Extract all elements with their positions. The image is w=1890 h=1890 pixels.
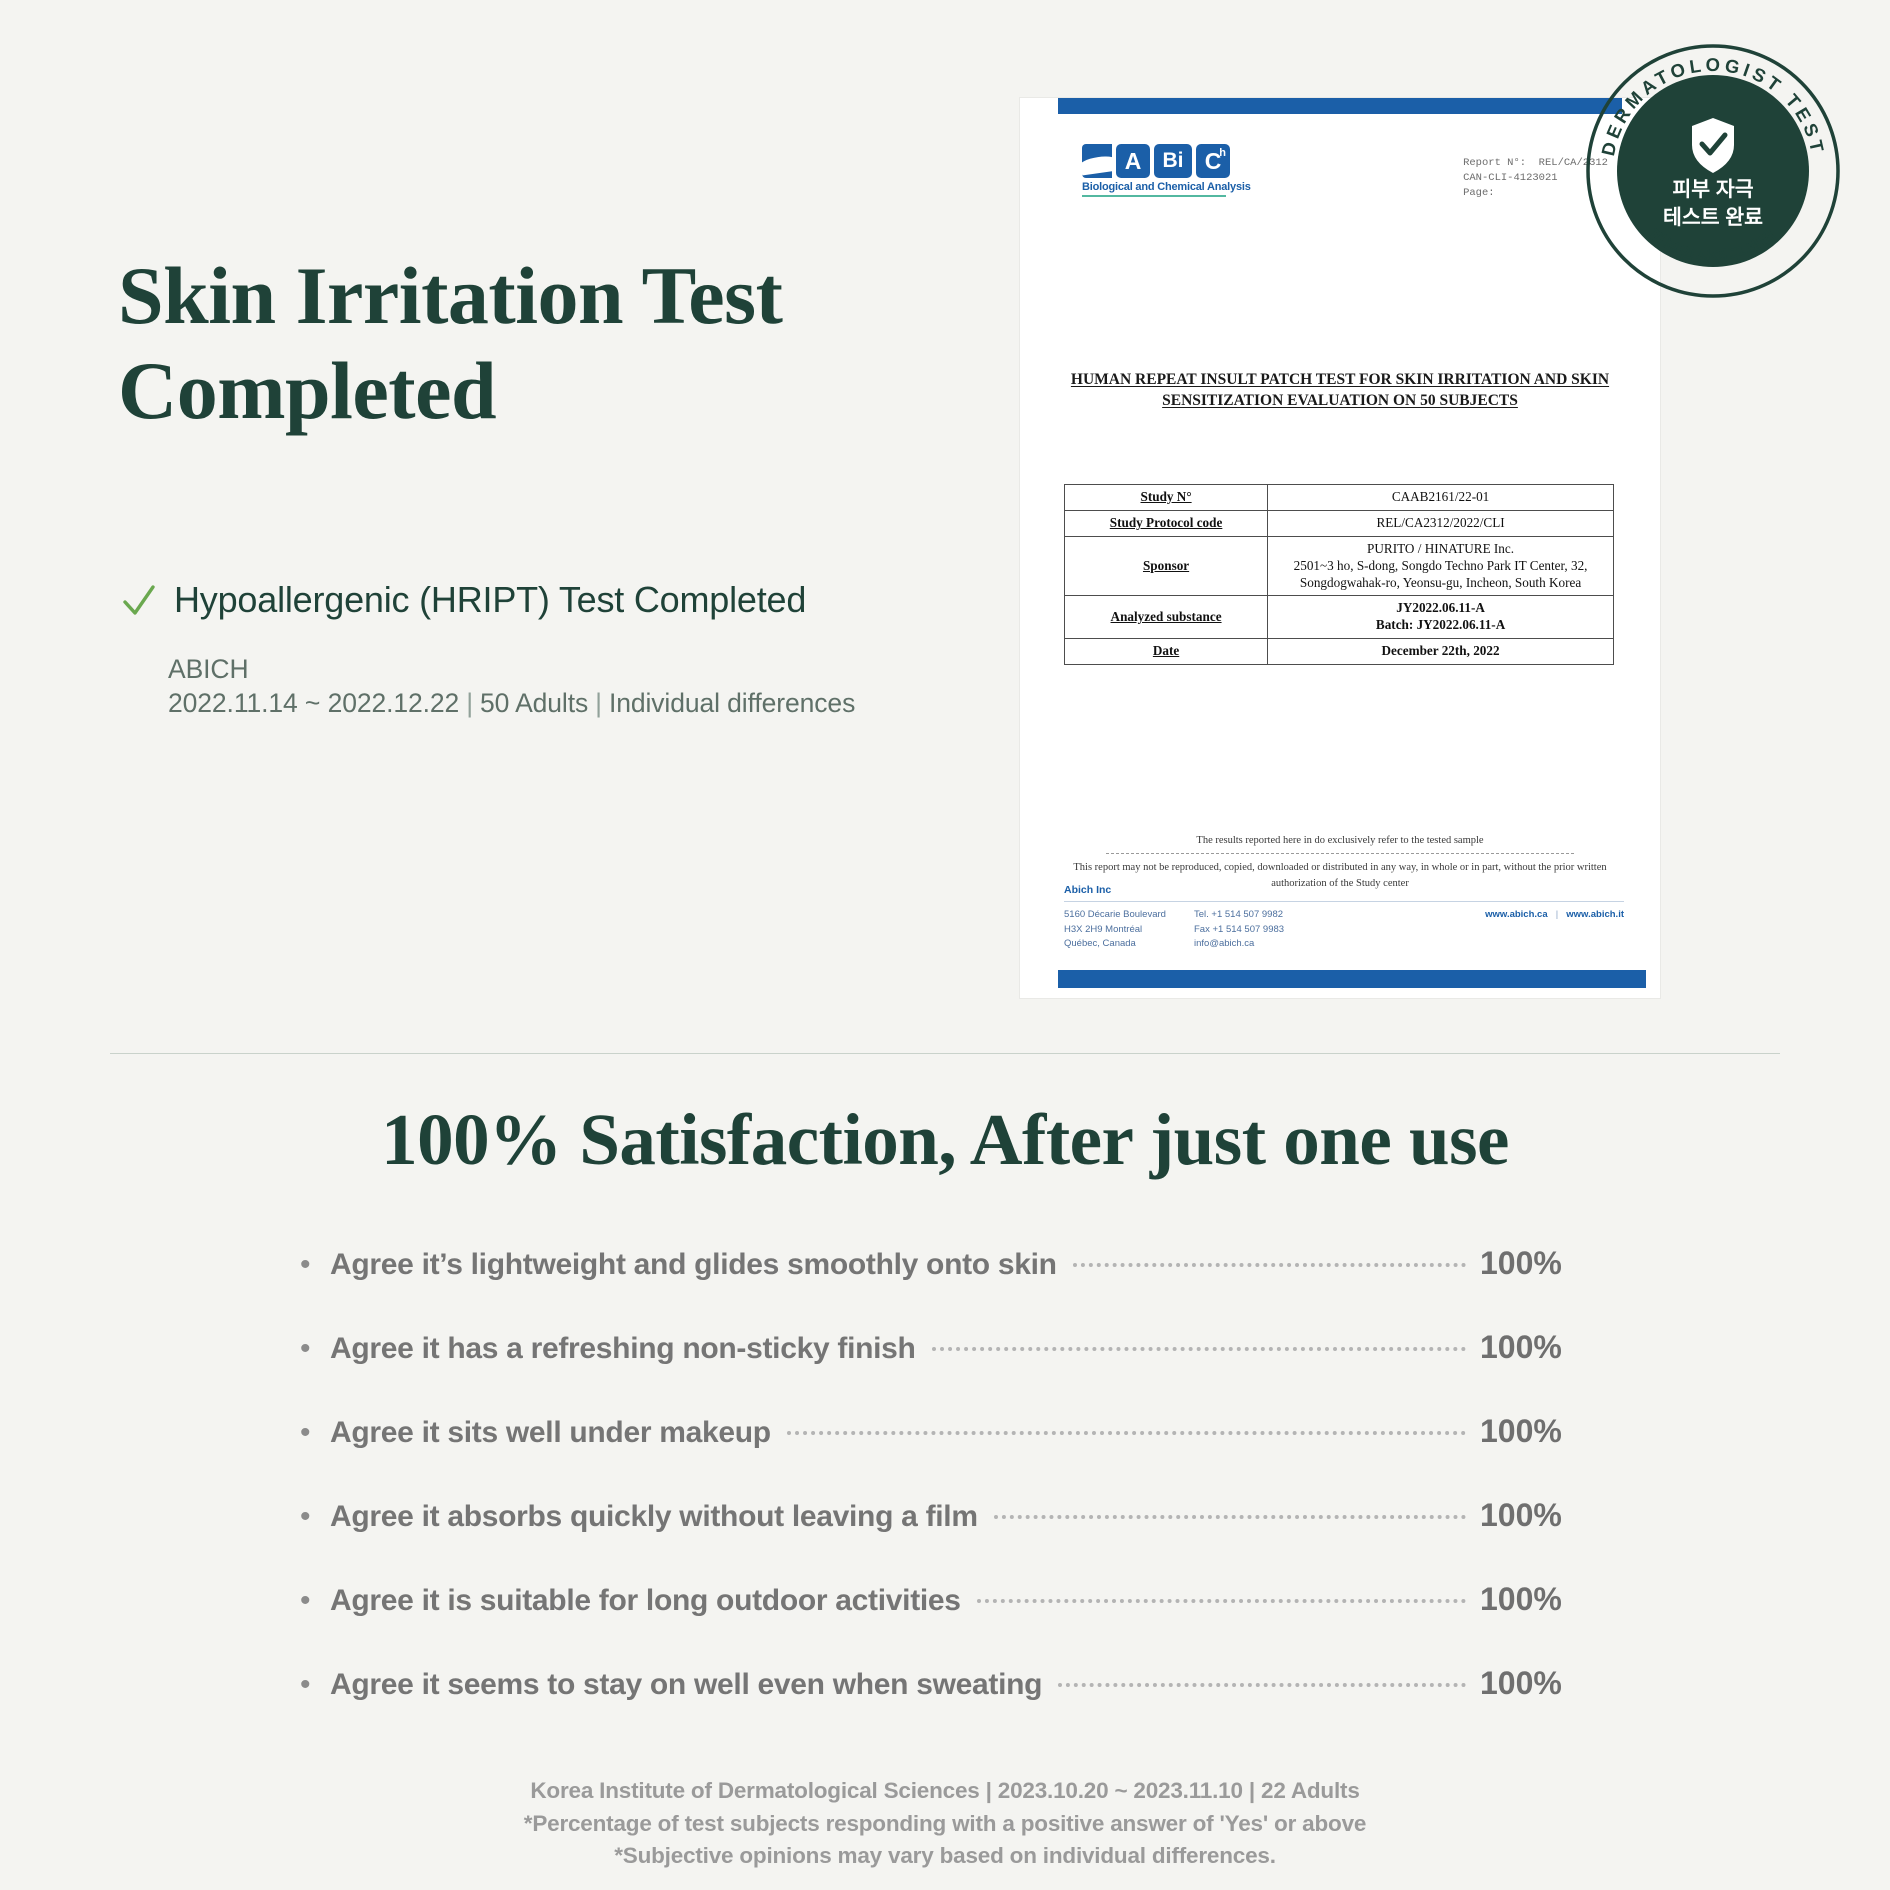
link-abich-ca[interactable]: www.abich.ca — [1485, 909, 1547, 920]
claim-meta-note: Individual differences — [609, 688, 855, 718]
certificate-title-line2: SENSITIZATION EVALUATION ON 50 SUBJECTS — [1162, 392, 1518, 409]
satisfaction-heading: 100% Satisfaction, After just one use — [0, 1098, 1890, 1182]
link-separator: | — [1548, 909, 1567, 920]
list-item: •Agree it sits well under makeup100% — [300, 1413, 1590, 1497]
list-item: •Agree it is suitable for long outdoor a… — [300, 1581, 1590, 1665]
certificate-footer-company: Abich Inc — [1064, 882, 1624, 898]
certificate-bottom-band — [1058, 970, 1646, 988]
satisfaction-list: •Agree it’s lightweight and glides smoot… — [300, 1245, 1590, 1749]
address-line-1: 5160 Décarie Boulevard — [1064, 908, 1194, 923]
list-item-value: 100% — [1480, 1329, 1590, 1366]
logo-letter-ch: Ch — [1196, 144, 1230, 178]
certificate-footer-links: www.abich.ca|www.abich.it — [1485, 908, 1624, 923]
list-item: •Agree it’s lightweight and glides smoot… — [300, 1245, 1590, 1329]
list-item-value: 100% — [1480, 1497, 1590, 1534]
promo-page: Skin Irritation Test Completed Hypoaller… — [0, 0, 1890, 1890]
list-item-value: 100% — [1480, 1581, 1590, 1618]
certificate-table: Study N°CAAB2161/22-01Study Protocol cod… — [1064, 484, 1614, 665]
claim-meta-org: ABICH — [168, 652, 868, 686]
list-item-label: Agree it has a refreshing non-sticky fin… — [330, 1332, 916, 1366]
list-item-value: 100% — [1480, 1665, 1590, 1702]
leader-dots — [932, 1347, 1466, 1351]
abich-underline — [1082, 195, 1226, 197]
table-cell-key: Analyzed substance — [1065, 596, 1268, 639]
flask-icon — [1082, 144, 1112, 178]
list-item: •Agree it absorbs quickly without leavin… — [300, 1497, 1590, 1581]
certificate-table-body: Study N°CAAB2161/22-01Study Protocol cod… — [1065, 485, 1614, 665]
certificate-footer-address: 5160 Décarie Boulevard H3X 2H9 Montréal … — [1064, 908, 1194, 952]
claim-meta: ABICH 2022.11.14 ~ 2022.12.22|50 Adults|… — [168, 652, 868, 721]
contact-line-1: Tel. +1 514 507 9982 — [1194, 908, 1384, 923]
list-item-label: Agree it’s lightweight and glides smooth… — [330, 1248, 1057, 1282]
table-cell-value: REL/CA2312/2022/CLI — [1268, 510, 1614, 536]
table-row: SponsorPURITO / HINATURE Inc.2501~3 ho, … — [1065, 536, 1614, 596]
list-item-label: Agree it absorbs quickly without leaving… — [330, 1500, 978, 1534]
list-item-value: 100% — [1480, 1245, 1590, 1282]
certificate-note-line1: The results reported here in do exclusiv… — [1060, 833, 1620, 849]
abich-logo: A Bi Ch Biological and Chemical Analysis — [1082, 144, 1251, 197]
contact-line-2: Fax +1 514 507 9983 — [1194, 923, 1384, 938]
table-row: Study N°CAAB2161/22-01 — [1065, 485, 1614, 511]
table-row: DateDecember 22th, 2022 — [1065, 639, 1614, 665]
bullet-icon: • — [300, 1250, 330, 1280]
check-icon — [122, 582, 156, 622]
claim-row: Hypoallergenic (HRIPT) Test Completed — [122, 578, 806, 622]
badge-graphic: DERMATOLOGIST TEST 피부임상연구센터 피부 자극 테스트 완료 — [1582, 40, 1844, 302]
certificate-document: A Bi Ch Biological and Chemical Analysis… — [1020, 98, 1660, 998]
footnote-line-1: Korea Institute of Dermatological Scienc… — [0, 1775, 1890, 1808]
link-abich-it[interactable]: www.abich.it — [1566, 909, 1624, 920]
table-cell-value: PURITO / HINATURE Inc.2501~3 ho, S-dong,… — [1268, 536, 1614, 596]
certificate-top-band — [1058, 98, 1622, 114]
claim-label: Hypoallergenic (HRIPT) Test Completed — [174, 578, 806, 621]
table-cell-value: December 22th, 2022 — [1268, 639, 1614, 665]
leader-dots — [994, 1515, 1466, 1519]
certificate-title-line1: HUMAN REPEAT INSULT PATCH TEST FOR SKIN … — [1071, 371, 1609, 388]
logo-letter-bi: Bi — [1154, 144, 1192, 178]
table-cell-value: CAAB2161/22-01 — [1268, 485, 1614, 511]
meta-separator-2: | — [588, 688, 609, 718]
contact-line-3: info@abich.ca — [1194, 937, 1384, 952]
certificate-footer-contact: Tel. +1 514 507 9982 Fax +1 514 507 9983… — [1194, 908, 1384, 952]
footnote-line-3: *Subjective opinions may vary based on i… — [0, 1840, 1890, 1873]
logo-letter-a: A — [1116, 144, 1150, 178]
certificate-note-divider — [1106, 853, 1574, 854]
abich-tagline: Biological and Chemical Analysis — [1082, 181, 1251, 193]
bullet-icon: • — [300, 1418, 330, 1448]
leader-dots — [1058, 1683, 1466, 1687]
footnote-line-2: *Percentage of test subjects responding … — [0, 1808, 1890, 1841]
certificate-footer: Abich Inc 5160 Décarie Boulevard H3X 2H9… — [1064, 882, 1624, 952]
claim-meta-details: 2022.11.14 ~ 2022.12.22|50 Adults|Indivi… — [168, 686, 868, 720]
dermatologist-test-badge: DERMATOLOGIST TEST 피부임상연구센터 피부 자극 테스트 완료 — [1582, 40, 1844, 302]
claim-meta-period: 2022.11.14 ~ 2022.12.22 — [168, 688, 459, 718]
list-item: •Agree it has a refreshing non-sticky fi… — [300, 1329, 1590, 1413]
list-item-label: Agree it seems to stay on well even when… — [330, 1668, 1042, 1702]
bullet-icon: • — [300, 1502, 330, 1532]
bullet-icon: • — [300, 1586, 330, 1616]
bullet-icon: • — [300, 1334, 330, 1364]
badge-center-line2: 테스트 완료 — [1663, 206, 1763, 229]
claim-meta-subjects: 50 Adults — [480, 688, 588, 718]
abich-logo-marks: A Bi Ch — [1082, 144, 1251, 178]
table-row: Analyzed substanceJY2022.06.11-ABatch: J… — [1065, 596, 1614, 639]
meta-separator-1: | — [459, 688, 480, 718]
address-line-2: H3X 2H9 Montréal — [1064, 923, 1194, 938]
page-title: Skin Irritation Test Completed — [118, 248, 878, 438]
table-cell-key: Study N° — [1065, 485, 1268, 511]
address-line-3: Québec, Canada — [1064, 937, 1194, 952]
certificate-footer-divider — [1064, 901, 1624, 902]
leader-dots — [787, 1431, 1466, 1435]
satisfaction-footnote: Korea Institute of Dermatological Scienc… — [0, 1775, 1890, 1873]
list-item-label: Agree it is suitable for long outdoor ac… — [330, 1584, 961, 1618]
badge-center-line1: 피부 자극 — [1672, 178, 1753, 201]
leader-dots — [1073, 1263, 1466, 1267]
table-row: Study Protocol codeREL/CA2312/2022/CLI — [1065, 510, 1614, 536]
hero-section: Skin Irritation Test Completed Hypoaller… — [0, 0, 1890, 1055]
certificate-title: HUMAN REPEAT INSULT PATCH TEST FOR SKIN … — [1064, 370, 1616, 412]
list-item-value: 100% — [1480, 1413, 1590, 1450]
certificate-footer-columns: 5160 Décarie Boulevard H3X 2H9 Montréal … — [1064, 908, 1624, 952]
leader-dots — [977, 1599, 1466, 1603]
table-cell-key: Sponsor — [1065, 536, 1268, 596]
list-item-label: Agree it sits well under makeup — [330, 1416, 771, 1450]
table-cell-key: Date — [1065, 639, 1268, 665]
table-cell-value: JY2022.06.11-ABatch: JY2022.06.11-A — [1268, 596, 1614, 639]
bullet-icon: • — [300, 1670, 330, 1700]
table-cell-key: Study Protocol code — [1065, 510, 1268, 536]
section-divider — [110, 1053, 1780, 1054]
list-item: •Agree it seems to stay on well even whe… — [300, 1665, 1590, 1749]
